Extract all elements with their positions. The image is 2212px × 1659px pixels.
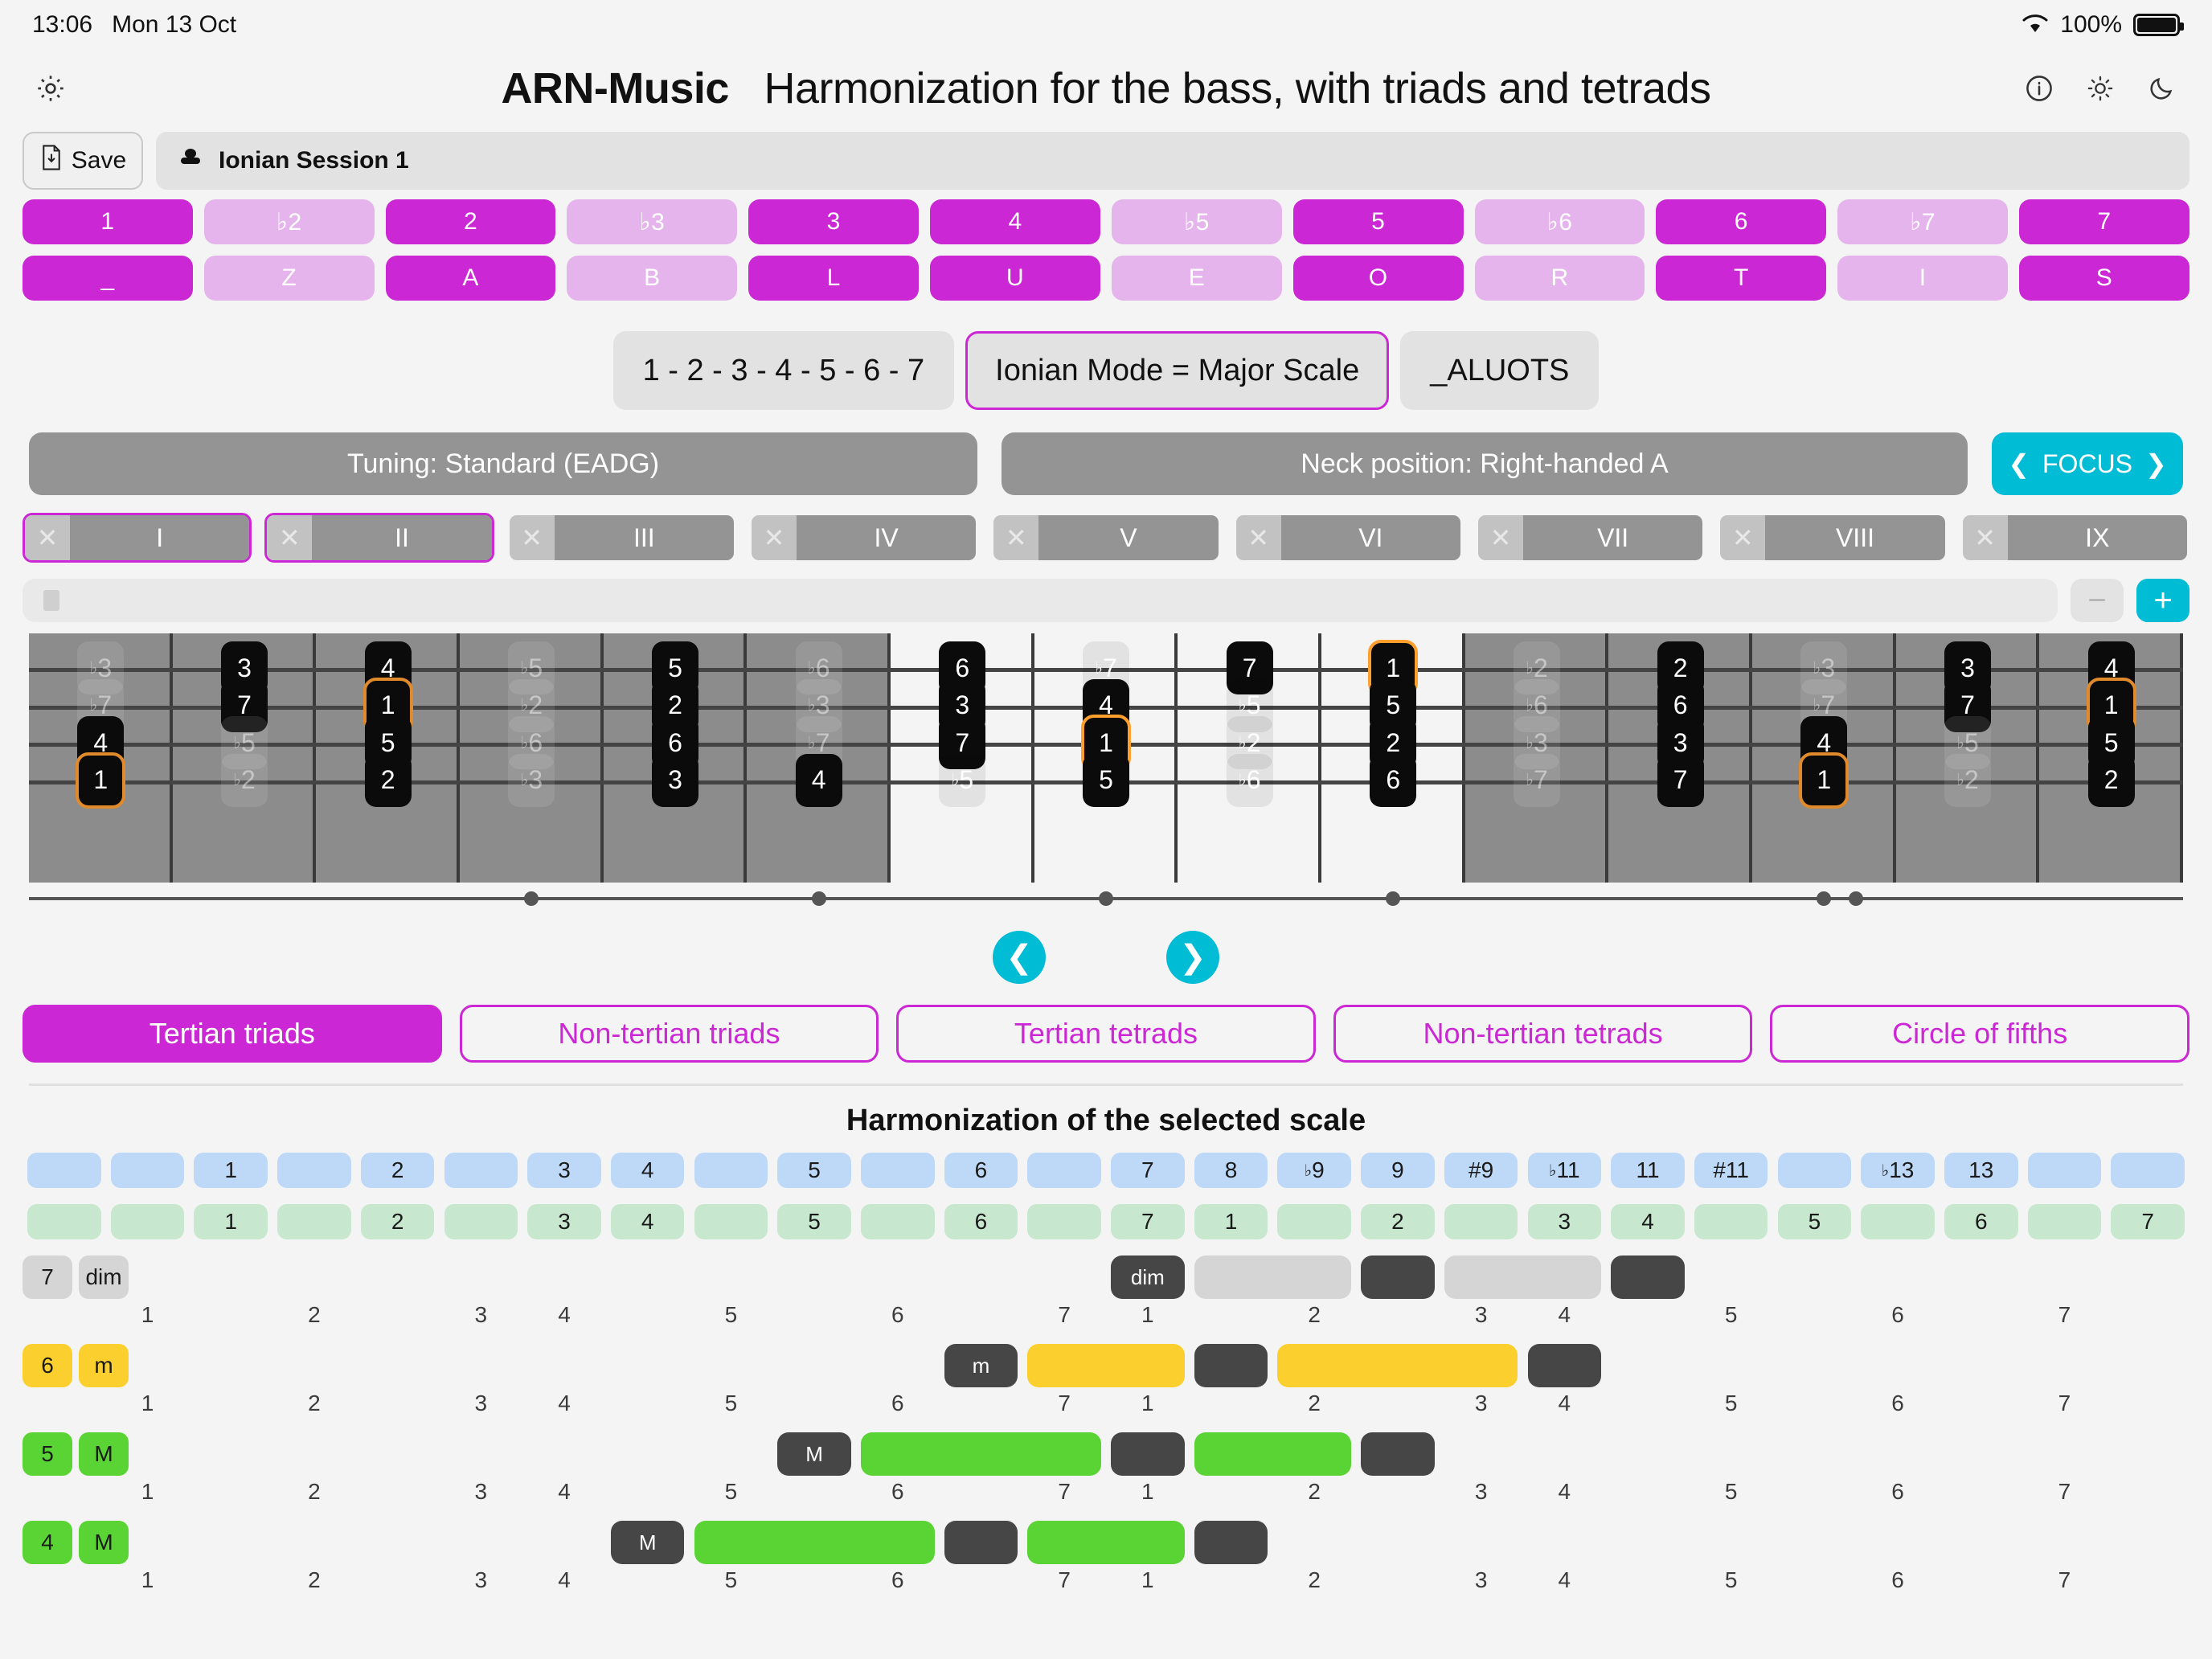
- degree-button-number-5[interactable]: 3: [748, 199, 919, 244]
- fret-note-s4-f11[interactable]: 7: [1657, 754, 1704, 807]
- tuning-row: Tuning: Standard (EADG) Neck position: R…: [0, 410, 2212, 495]
- interval-cell-15[interactable]: ♭9: [1277, 1153, 1351, 1188]
- degree-label-7-11: 5: [1725, 1302, 1738, 1328]
- roman-item-III[interactable]: ✕III: [507, 513, 736, 563]
- degree-label-5-3: 4: [558, 1479, 571, 1505]
- degree-button-letter-3[interactable]: A: [386, 256, 556, 301]
- status-time: 13:06: [32, 11, 92, 39]
- degree-label-6-8: 2: [1308, 1391, 1321, 1416]
- scale-cell-16[interactable]: 2: [1361, 1204, 1435, 1239]
- chord-segment-7-3[interactable]: [1444, 1256, 1601, 1299]
- degree-button-letter-8[interactable]: O: [1293, 256, 1464, 301]
- degree-button-letter-12[interactable]: S: [2019, 256, 2189, 301]
- chord-quality-tag[interactable]: M: [79, 1521, 129, 1564]
- degree-button-letter-2[interactable]: Z: [204, 256, 375, 301]
- chord-segment-5-0[interactable]: M: [777, 1432, 851, 1476]
- tab-non-tertian-triads[interactable]: Non-tertian triads: [460, 1005, 879, 1063]
- scale-pill-row: 12345671234567: [23, 1204, 2189, 1239]
- interval-cell-19[interactable]: 11: [1611, 1153, 1685, 1188]
- chord-row-5: 5MM: [23, 1432, 2189, 1476]
- fret-note-s4-f4[interactable]: 3: [652, 754, 698, 807]
- chord-segment-7-1[interactable]: [1194, 1256, 1351, 1299]
- degree-button-letter-4[interactable]: B: [567, 256, 737, 301]
- degree-label-4-9: 3: [1475, 1567, 1488, 1593]
- interval-cell-18[interactable]: ♭11: [1528, 1153, 1602, 1188]
- interval-cell-5[interactable]: [444, 1153, 518, 1188]
- scale-cell-14[interactable]: 1: [1194, 1204, 1268, 1239]
- fret-note-s4-f14[interactable]: 2: [2088, 754, 2135, 807]
- chord-label-7[interactable]: 7dim: [23, 1256, 129, 1299]
- scale-cell-25[interactable]: 7: [2111, 1204, 2185, 1239]
- scale-cell-19[interactable]: 4: [1611, 1204, 1685, 1239]
- chord-row-7: 7dimdim: [23, 1256, 2189, 1299]
- fret-note-s4-f10[interactable]: ♭7: [1514, 754, 1560, 807]
- close-icon[interactable]: ✕: [1720, 515, 1765, 560]
- degree-label-4-2: 3: [475, 1567, 488, 1593]
- chord-degree-labels-5: 12345671234567: [23, 1479, 2189, 1518]
- interval-cell-21[interactable]: [1778, 1153, 1852, 1188]
- chord-segment-5-3[interactable]: [1194, 1432, 1351, 1476]
- roman-label[interactable]: III: [555, 515, 734, 560]
- chord-quality-tag[interactable]: m: [79, 1344, 129, 1387]
- tab-circle-of-fifths[interactable]: Circle of fifths: [1770, 1005, 2189, 1063]
- degree-label-7-1: 2: [308, 1302, 321, 1328]
- interval-cell-17[interactable]: #9: [1444, 1153, 1518, 1188]
- degree-label-5-2: 3: [475, 1479, 488, 1505]
- chord-degree-tag[interactable]: 5: [23, 1432, 72, 1476]
- degree-label-5-7: 1: [1141, 1479, 1154, 1505]
- drag-handle-icon[interactable]: [43, 590, 59, 611]
- fret-marker-dot-9-3: [1386, 891, 1400, 906]
- page-title: ARN-Music Harmonization for the bass, wi…: [0, 63, 2212, 113]
- chevron-left-icon: ❮: [2008, 449, 2030, 479]
- degree-label-5-4: 5: [725, 1479, 738, 1505]
- fretboard-scroll-track[interactable]: [23, 579, 2058, 622]
- degree-label-7-2: 3: [475, 1302, 488, 1328]
- roman-label[interactable]: IX: [2008, 515, 2187, 560]
- degree-button-letter-11[interactable]: I: [1837, 256, 2008, 301]
- session-name-text: Ionian Session 1: [219, 147, 409, 174]
- interval-cell-1[interactable]: [111, 1153, 185, 1188]
- interval-cell-14[interactable]: 8: [1194, 1153, 1268, 1188]
- roman-item-I[interactable]: ✕I: [23, 513, 252, 563]
- info-icon[interactable]: [2017, 67, 2061, 110]
- fret-note-s4-f5[interactable]: 4: [796, 754, 842, 807]
- degree-label-4-12: 6: [1891, 1567, 1904, 1593]
- degree-label-5-6: 7: [1058, 1479, 1071, 1505]
- close-icon[interactable]: ✕: [510, 515, 555, 560]
- tuning-selector[interactable]: Tuning: Standard (EADG): [29, 432, 977, 495]
- chord-segment-4-1[interactable]: [694, 1521, 935, 1564]
- scale-cell-1[interactable]: [111, 1204, 185, 1239]
- interval-cell-20[interactable]: #11: [1694, 1153, 1768, 1188]
- degree-button-rows: 1♭22♭334♭55♭66♭77 _ZABLUEORTIS: [0, 190, 2212, 301]
- app-brand: ARN-Music: [501, 64, 729, 113]
- roman-item-IX[interactable]: ✕IX: [1960, 513, 2189, 563]
- cloud-icon: [177, 147, 204, 174]
- focus-button[interactable]: ❮ FOCUS ❯: [1992, 432, 2183, 495]
- neck-position-selector[interactable]: Neck position: Right-handed A: [1002, 432, 1968, 495]
- chord-segment-5-4[interactable]: [1361, 1432, 1435, 1476]
- interval-cell-12[interactable]: [1027, 1153, 1101, 1188]
- battery-icon: [2133, 14, 2180, 36]
- degree-label-5-5: 6: [891, 1479, 904, 1505]
- interval-cell-22[interactable]: ♭13: [1861, 1153, 1935, 1188]
- fret-marker-dot-5-1: [812, 891, 826, 906]
- degree-label-4-5: 6: [891, 1567, 904, 1593]
- degree-label-6-4: 5: [725, 1391, 738, 1416]
- scale-cell-21[interactable]: 5: [1778, 1204, 1852, 1239]
- scale-cell-15[interactable]: [1277, 1204, 1351, 1239]
- status-bar: 13:06 Mon 13 Oct 100%: [0, 0, 2212, 50]
- fret-marker-dot-12-4: [1817, 891, 1831, 906]
- mode-info-row: 1 - 2 - 3 - 4 - 5 - 6 - 7 Ionian Mode = …: [0, 312, 2212, 410]
- degree-label-5-1: 2: [308, 1479, 321, 1505]
- chord-label-5[interactable]: 5M: [23, 1432, 129, 1476]
- chord-row-6: 6mm: [23, 1344, 2189, 1387]
- tab-tertian-tetrads[interactable]: Tertian tetrads: [896, 1005, 1316, 1063]
- battery-percent: 100%: [2060, 11, 2122, 39]
- scale-cell-24[interactable]: [2028, 1204, 2102, 1239]
- scale-formula-box[interactable]: 1 - 2 - 3 - 4 - 5 - 6 - 7: [613, 331, 955, 410]
- roman-item-V[interactable]: ✕V: [991, 513, 1220, 563]
- close-icon[interactable]: ✕: [25, 515, 70, 560]
- interval-pill-row: 12345678♭99#9♭1111#11♭1313: [23, 1153, 2189, 1188]
- degree-button-letter-9[interactable]: R: [1475, 256, 1645, 301]
- degree-label-6-11: 5: [1725, 1391, 1738, 1416]
- degree-label-7-3: 4: [558, 1302, 571, 1328]
- scale-cell-4[interactable]: 2: [361, 1204, 435, 1239]
- fretboard[interactable]: ♭334♭55♭66♭771♭22♭334♭771♭22♭334♭55♭66♭7…: [29, 633, 2183, 883]
- degree-label-6-12: 6: [1891, 1391, 1904, 1416]
- page-subtitle: Harmonization for the bass, with triads …: [764, 64, 1710, 113]
- fret-marker-dot-3-0: [524, 891, 539, 906]
- roman-label[interactable]: II: [312, 515, 491, 560]
- degree-label-7-8: 2: [1308, 1302, 1321, 1328]
- scale-cell-20[interactable]: [1694, 1204, 1768, 1239]
- status-date: Mon 13 Oct: [112, 11, 236, 39]
- moon-icon[interactable]: [2140, 67, 2183, 110]
- degree-label-4-10: 4: [1559, 1567, 1571, 1593]
- interval-cell-10[interactable]: [861, 1153, 935, 1188]
- interval-cell-23[interactable]: 13: [1944, 1153, 2018, 1188]
- degree-button-number-4[interactable]: ♭3: [567, 199, 737, 244]
- chord-segment-7-4[interactable]: [1611, 1256, 1685, 1299]
- prev-button[interactable]: ❮: [993, 931, 1046, 984]
- degree-label-4-7: 1: [1141, 1567, 1154, 1593]
- interval-cell-3[interactable]: [277, 1153, 351, 1188]
- scale-cell-3[interactable]: [277, 1204, 351, 1239]
- degree-label-7-4: 5: [725, 1302, 738, 1328]
- roman-label[interactable]: IV: [797, 515, 976, 560]
- degree-label-4-3: 4: [558, 1567, 571, 1593]
- close-icon[interactable]: ✕: [267, 515, 312, 560]
- chord-degree-labels-7: 12345671234567: [23, 1302, 2189, 1341]
- scale-cell-13[interactable]: 7: [1111, 1204, 1185, 1239]
- chord-segment-7-2[interactable]: [1361, 1256, 1435, 1299]
- degree-label-7-9: 3: [1475, 1302, 1488, 1328]
- zoom-out-button[interactable]: −: [2071, 579, 2124, 622]
- file-save-icon: [39, 144, 63, 178]
- degree-button-number-12[interactable]: 7: [2019, 199, 2189, 244]
- roman-item-IV[interactable]: ✕IV: [749, 513, 978, 563]
- roman-label[interactable]: VI: [1281, 515, 1460, 560]
- degree-label-7-13: 7: [2058, 1302, 2071, 1328]
- fret-marker-dot-7-2: [1099, 891, 1113, 906]
- chord-segment-5-1[interactable]: [861, 1432, 1101, 1476]
- mode-name-box[interactable]: Ionian Mode = Major Scale: [965, 331, 1389, 410]
- close-icon[interactable]: ✕: [993, 515, 1038, 560]
- chevron-right-icon: ❯: [2145, 449, 2167, 479]
- save-button-label: Save: [72, 147, 126, 174]
- degree-label-4-8: 2: [1308, 1567, 1321, 1593]
- interval-cell-9[interactable]: 5: [777, 1153, 851, 1188]
- harmonization-grid: 12345678♭99#9♭1111#11♭1313 1234567123456…: [0, 1153, 2212, 1606]
- chord-label-6[interactable]: 6m: [23, 1344, 129, 1387]
- interval-cell-16[interactable]: 9: [1361, 1153, 1435, 1188]
- session-name-field[interactable]: Ionian Session 1: [156, 132, 2189, 190]
- scale-cell-22[interactable]: [1861, 1204, 1935, 1239]
- degree-button-number-10[interactable]: 6: [1656, 199, 1826, 244]
- zoom-in-button[interactable]: +: [2136, 579, 2189, 622]
- fret-note-s4-f7[interactable]: 5: [1083, 754, 1129, 807]
- fret-note-s4-f9[interactable]: 6: [1370, 754, 1416, 807]
- scale-cell-8[interactable]: [694, 1204, 768, 1239]
- degree-label-6-5: 6: [891, 1391, 904, 1416]
- degree-label-5-0: 1: [141, 1479, 154, 1505]
- degree-button-letter-5[interactable]: L: [748, 256, 919, 301]
- degree-label-4-0: 1: [141, 1567, 154, 1593]
- harmonization-title: Harmonization of the selected scale: [0, 1086, 2212, 1153]
- scale-cell-10[interactable]: [861, 1204, 935, 1239]
- chord-segment-4-3[interactable]: [1027, 1521, 1184, 1564]
- degree-label-7-6: 7: [1058, 1302, 1071, 1328]
- chord-segment-4-0[interactable]: M: [611, 1521, 685, 1564]
- degree-button-letter-1[interactable]: _: [23, 256, 193, 301]
- degree-label-6-3: 4: [558, 1391, 571, 1416]
- roman-item-VIII[interactable]: ✕VIII: [1718, 513, 1947, 563]
- chord-type-tabs: Tertian triadsNon-tertian triadsTertian …: [0, 984, 2212, 1063]
- degree-label-5-10: 4: [1559, 1479, 1571, 1505]
- chord-quality-tag[interactable]: M: [79, 1432, 129, 1476]
- roman-label[interactable]: V: [1038, 515, 1218, 560]
- chord-segment-6-2[interactable]: [1194, 1344, 1268, 1387]
- fret-note-s4-f0[interactable]: 1: [77, 754, 124, 807]
- chord-degree-tag[interactable]: 6: [23, 1344, 72, 1387]
- degree-label-6-1: 2: [308, 1391, 321, 1416]
- degree-row-numbers: 1♭22♭334♭55♭66♭77: [23, 199, 2189, 244]
- roman-label[interactable]: VII: [1523, 515, 1702, 560]
- close-icon[interactable]: ✕: [1236, 515, 1281, 560]
- degree-label-5-13: 7: [2058, 1479, 2071, 1505]
- scale-cell-7[interactable]: 4: [611, 1204, 685, 1239]
- degree-label-7-0: 1: [141, 1302, 154, 1328]
- chord-quality-tag[interactable]: dim: [79, 1256, 129, 1299]
- fret-note-s4-f3[interactable]: ♭3: [508, 754, 555, 807]
- fret-note-s4-f1[interactable]: ♭2: [221, 754, 268, 807]
- degree-label-5-8: 2: [1308, 1479, 1321, 1505]
- chord-degree-labels-6: 12345671234567: [23, 1391, 2189, 1429]
- degree-button-letter-6[interactable]: U: [930, 256, 1100, 301]
- degree-button-number-2[interactable]: ♭2: [204, 199, 375, 244]
- degree-label-7-7: 1: [1141, 1302, 1154, 1328]
- interval-cell-4[interactable]: 2: [361, 1153, 435, 1188]
- degree-button-number-11[interactable]: ♭7: [1837, 199, 2008, 244]
- interval-cell-0[interactable]: [27, 1153, 101, 1188]
- degree-label-7-10: 4: [1559, 1302, 1571, 1328]
- fret-note-s4-f8[interactable]: ♭6: [1227, 754, 1273, 807]
- degree-button-number-1[interactable]: 1: [23, 199, 193, 244]
- fret-marker-dot-12-5: [1849, 891, 1863, 906]
- degree-label-6-2: 3: [475, 1391, 488, 1416]
- close-icon[interactable]: ✕: [1478, 515, 1523, 560]
- scale-cell-2[interactable]: 1: [194, 1204, 268, 1239]
- wifi-icon: [2022, 14, 2049, 35]
- chord-segment-6-4[interactable]: [1528, 1344, 1602, 1387]
- degree-label-6-6: 7: [1058, 1391, 1071, 1416]
- degree-label-6-9: 3: [1475, 1391, 1488, 1416]
- degree-label-4-4: 5: [725, 1567, 738, 1593]
- scale-cell-12[interactable]: [1027, 1204, 1101, 1239]
- chord-segment-5-2[interactable]: [1111, 1432, 1185, 1476]
- chord-degree-tag[interactable]: 4: [23, 1521, 72, 1564]
- degree-row-letters: _ZABLUEORTIS: [23, 256, 2189, 301]
- degree-label-7-5: 6: [891, 1302, 904, 1328]
- degree-label-4-6: 7: [1058, 1567, 1071, 1593]
- mode-code-box[interactable]: _ALUOTS: [1400, 331, 1599, 410]
- scale-cell-5[interactable]: [444, 1204, 518, 1239]
- interval-cell-2[interactable]: 1: [194, 1153, 268, 1188]
- chord-label-4[interactable]: 4M: [23, 1521, 129, 1564]
- interval-cell-6[interactable]: 3: [527, 1153, 601, 1188]
- fret-note-s4-f6[interactable]: ♭5: [939, 754, 985, 807]
- degree-label-7-12: 6: [1891, 1302, 1904, 1328]
- degree-label-4-11: 5: [1725, 1567, 1738, 1593]
- roman-label[interactable]: VIII: [1765, 515, 1944, 560]
- chord-rows: 7dimdim123456712345676mm123456712345675M…: [23, 1256, 2189, 1606]
- degree-button-number-6[interactable]: 4: [930, 199, 1100, 244]
- scale-cell-17[interactable]: [1444, 1204, 1518, 1239]
- degree-label-5-12: 6: [1891, 1479, 1904, 1505]
- scale-cell-18[interactable]: 3: [1528, 1204, 1602, 1239]
- chord-segment-7-0[interactable]: dim: [1111, 1256, 1185, 1299]
- roman-item-VI[interactable]: ✕VI: [1234, 513, 1463, 563]
- degree-label-6-13: 7: [2058, 1391, 2071, 1416]
- chord-degree-labels-4: 12345671234567: [23, 1567, 2189, 1606]
- roman-item-VII[interactable]: ✕VII: [1476, 513, 1705, 563]
- fretboard-toolbar: − +: [0, 563, 2212, 622]
- degree-button-number-8[interactable]: 5: [1293, 199, 1464, 244]
- degree-label-6-0: 1: [141, 1391, 154, 1416]
- degree-label-5-11: 5: [1725, 1479, 1738, 1505]
- degree-button-number-9[interactable]: ♭6: [1475, 199, 1645, 244]
- degree-label-6-10: 4: [1559, 1391, 1571, 1416]
- degree-label-6-7: 1: [1141, 1391, 1154, 1416]
- chord-row-4: 4MM: [23, 1521, 2189, 1564]
- chord-segment-6-3[interactable]: [1277, 1344, 1518, 1387]
- tab-tertian-triads[interactable]: Tertian triads: [23, 1005, 442, 1063]
- fretboard-area: ♭334♭55♭66♭771♭22♭334♭771♭22♭334♭55♭66♭7…: [0, 622, 2212, 913]
- app-header: ARN-Music Harmonization for the bass, wi…: [0, 50, 2212, 127]
- chord-segment-4-4[interactable]: [1194, 1521, 1268, 1564]
- interval-cell-24[interactable]: [2028, 1153, 2102, 1188]
- degree-button-number-7[interactable]: ♭5: [1112, 199, 1282, 244]
- roman-item-II[interactable]: ✕II: [264, 513, 494, 563]
- degree-button-number-3[interactable]: 2: [386, 199, 556, 244]
- degree-label-4-13: 7: [2058, 1567, 2071, 1593]
- fret-marker-rail: [29, 884, 2183, 913]
- roman-numeral-row: ✕I✕II✕III✕IV✕V✕VI✕VII✕VIII✕IX: [0, 495, 2212, 563]
- scale-cell-11[interactable]: 6: [944, 1204, 1018, 1239]
- chord-segment-6-1[interactable]: [1027, 1344, 1184, 1387]
- interval-cell-7[interactable]: 4: [611, 1153, 685, 1188]
- interval-cell-25[interactable]: [2111, 1153, 2185, 1188]
- close-icon[interactable]: ✕: [1963, 515, 2008, 560]
- interval-cell-13[interactable]: 7: [1111, 1153, 1185, 1188]
- gear-icon[interactable]: [29, 67, 72, 110]
- degree-label-5-9: 3: [1475, 1479, 1488, 1505]
- chord-segment-6-0[interactable]: m: [944, 1344, 1018, 1387]
- fret-note-s4-f12[interactable]: 1: [1800, 754, 1847, 807]
- session-row: Save Ionian Session 1: [0, 127, 2212, 190]
- degree-label-4-1: 2: [308, 1567, 321, 1593]
- save-button[interactable]: Save: [23, 132, 143, 190]
- fret-note-s4-f13[interactable]: ♭2: [1944, 754, 1991, 807]
- chord-segment-4-2[interactable]: [944, 1521, 1018, 1564]
- sun-icon[interactable]: [2079, 67, 2122, 110]
- scale-cell-6[interactable]: 3: [527, 1204, 601, 1239]
- fret-note-s4-f2[interactable]: 2: [365, 754, 412, 807]
- scale-cell-0[interactable]: [27, 1204, 101, 1239]
- degree-button-letter-7[interactable]: E: [1112, 256, 1282, 301]
- interval-cell-8[interactable]: [694, 1153, 768, 1188]
- fretboard-nav-row: ❮ ❯: [0, 913, 2212, 984]
- roman-label[interactable]: I: [70, 515, 249, 560]
- tab-non-tertian-tetrads[interactable]: Non-tertian tetrads: [1333, 1005, 1753, 1063]
- next-button[interactable]: ❯: [1166, 931, 1219, 984]
- degree-button-letter-10[interactable]: T: [1656, 256, 1826, 301]
- focus-button-label: FOCUS: [2042, 449, 2132, 479]
- scale-cell-9[interactable]: 5: [777, 1204, 851, 1239]
- scale-cell-23[interactable]: 6: [1944, 1204, 2018, 1239]
- interval-cell-11[interactable]: 6: [944, 1153, 1018, 1188]
- close-icon[interactable]: ✕: [752, 515, 797, 560]
- chord-degree-tag[interactable]: 7: [23, 1256, 72, 1299]
